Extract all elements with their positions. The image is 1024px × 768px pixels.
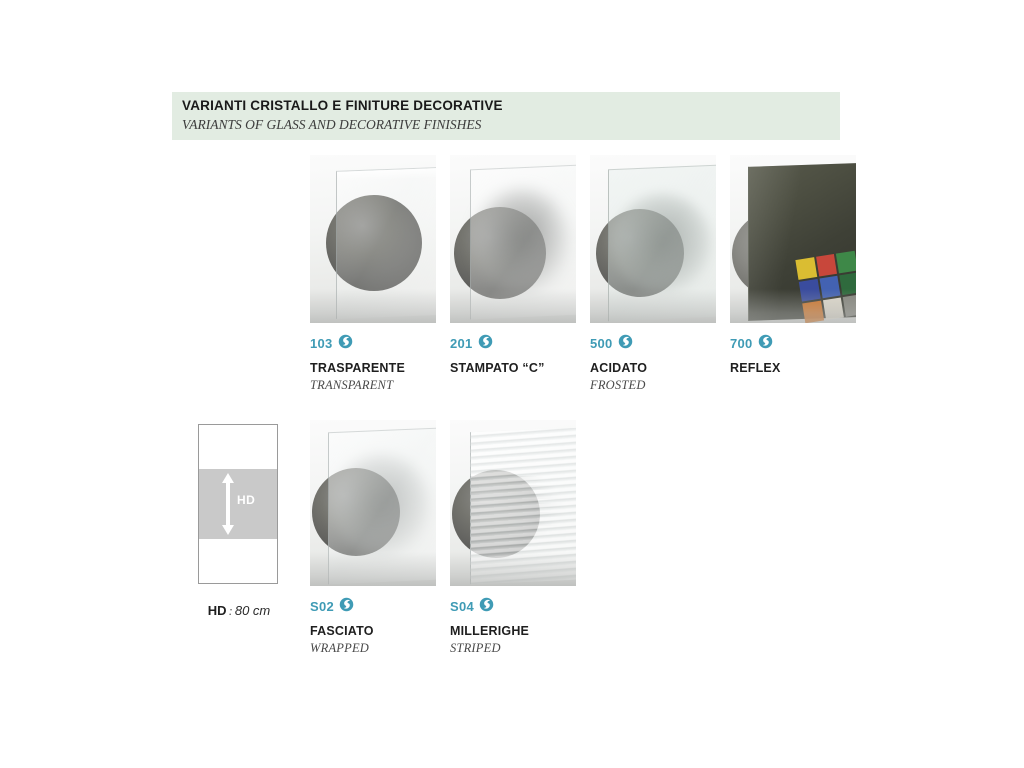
section-header-band: VARIANTI CRISTALLO E FINITURE DECORATIVE… xyxy=(172,92,840,140)
finish-name-it: STAMPATO “C” xyxy=(450,361,576,375)
sample-floor-shadow xyxy=(730,289,856,323)
hd-caption-value: 80 cm xyxy=(235,603,270,618)
color-checker-swatch xyxy=(836,251,856,274)
finish-caption: 700 REFLEX xyxy=(730,335,856,375)
color-checker-swatch xyxy=(816,254,838,277)
sample-floor-shadow xyxy=(450,552,576,586)
finish-name-it: TRASPARENTE xyxy=(310,361,436,375)
finish-code-line: S04 xyxy=(450,598,576,615)
finish-swirl-icon xyxy=(338,334,353,354)
finish-card-s04[interactable]: S04 MILLERIGHE STRIPED xyxy=(450,420,576,656)
finish-name-it: FASCIATO xyxy=(310,624,436,638)
hd-dimension-diagram: HD HD:80 cm xyxy=(198,424,294,620)
catalog-page: VARIANTI CRISTALLO E FINITURE DECORATIVE… xyxy=(0,0,1024,768)
finish-caption: 500 ACIDATO FROSTED xyxy=(590,335,716,393)
finish-code: 103 xyxy=(310,336,333,351)
finish-card-s02[interactable]: S02 FASCIATO WRAPPED xyxy=(310,420,436,656)
finish-code: 500 xyxy=(590,336,613,351)
finish-name-en: STRIPED xyxy=(450,641,576,656)
hd-caption: HD:80 cm xyxy=(184,602,294,620)
finish-card-700[interactable]: 700 REFLEX xyxy=(730,155,856,393)
glass-stampato-c-sample xyxy=(450,155,576,323)
glass-frosted-sample xyxy=(590,155,716,323)
finish-code-line: 500 xyxy=(590,335,716,352)
finish-name-en: WRAPPED xyxy=(310,641,436,656)
finish-name-en: FROSTED xyxy=(590,378,716,393)
finish-code-line: 700 xyxy=(730,335,856,352)
finish-row-2: S02 FASCIATO WRAPPED xyxy=(310,420,590,656)
sample-floor-shadow xyxy=(310,289,436,323)
finish-swirl-icon xyxy=(758,334,773,354)
finish-caption: S02 FASCIATO WRAPPED xyxy=(310,598,436,656)
finish-caption: 201 STAMPATO “C” xyxy=(450,335,576,375)
finish-code: S04 xyxy=(450,599,474,614)
finish-swirl-icon xyxy=(618,334,633,354)
finish-swirl-icon xyxy=(479,597,494,617)
finish-caption: S04 MILLERIGHE STRIPED xyxy=(450,598,576,656)
hd-double-arrow-icon xyxy=(221,473,235,535)
glass-millerighe-sample xyxy=(450,420,576,586)
finish-name-en: TRANSPARENT xyxy=(310,378,436,393)
finish-code-line: 103 xyxy=(310,335,436,352)
finish-card-500[interactable]: 500 ACIDATO FROSTED xyxy=(590,155,716,393)
color-checker-swatch xyxy=(795,257,817,280)
hd-figure-outline: HD xyxy=(198,424,278,584)
page-subtitle: VARIANTS OF GLASS AND DECORATIVE FINISHE… xyxy=(182,117,840,133)
finish-card-103[interactable]: 103 TRASPARENTE TRANSPARENT xyxy=(310,155,436,393)
hd-caption-separator: : xyxy=(229,603,233,618)
finish-card-201[interactable]: 201 STAMPATO “C” xyxy=(450,155,576,393)
finish-caption: 103 TRASPARENTE TRANSPARENT xyxy=(310,335,436,393)
finish-code-line: 201 xyxy=(450,335,576,352)
sample-floor-shadow xyxy=(450,289,576,323)
sample-floor-shadow xyxy=(590,289,716,323)
finish-swirl-icon xyxy=(478,334,493,354)
glass-fasciato-sample xyxy=(310,420,436,586)
finish-code: 201 xyxy=(450,336,473,351)
page-title: VARIANTI CRISTALLO E FINITURE DECORATIVE xyxy=(182,98,840,114)
finish-swirl-icon xyxy=(339,597,354,617)
finish-row-1: 103 TRASPARENTE TRANSPARENT xyxy=(310,155,870,393)
finish-name-it: ACIDATO xyxy=(590,361,716,375)
finish-code: 700 xyxy=(730,336,753,351)
glass-transparent-sample xyxy=(310,155,436,323)
finish-code-line: S02 xyxy=(310,598,436,615)
finish-name-it: MILLERIGHE xyxy=(450,624,576,638)
finish-name-it: REFLEX xyxy=(730,361,856,375)
hd-caption-key: HD xyxy=(208,603,227,618)
glass-reflex-sample xyxy=(730,155,856,323)
finish-code: S02 xyxy=(310,599,334,614)
sample-floor-shadow xyxy=(310,552,436,586)
hd-figure-label: HD xyxy=(237,493,255,507)
